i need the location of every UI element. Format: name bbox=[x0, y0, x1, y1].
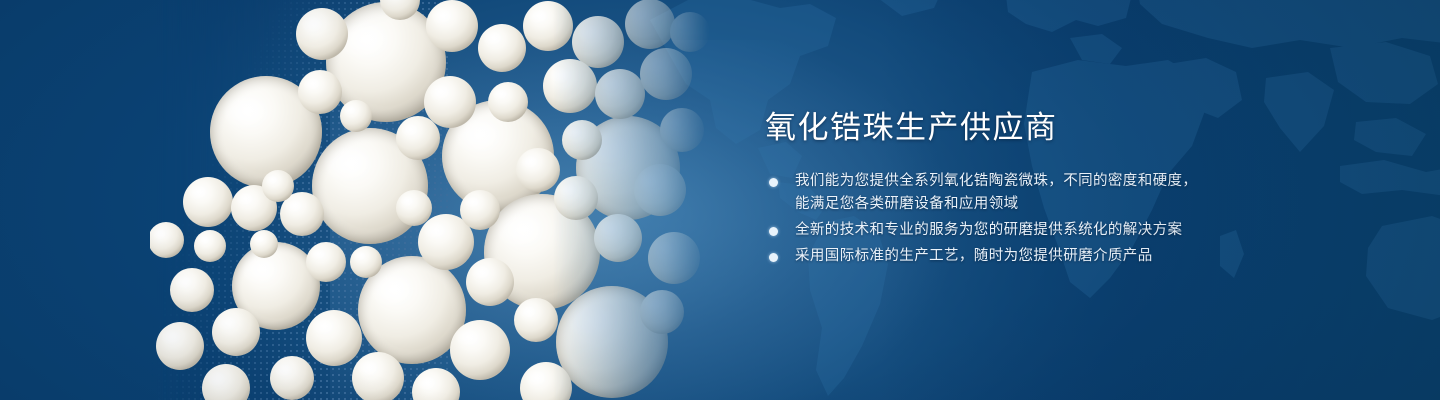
bullet-item-1: 我们能为您提供全系列氧化锆陶瓷微珠，不同的密度和硬度， 能满足您各类研磨设备和应… bbox=[765, 170, 1385, 216]
bullet-dot-icon bbox=[769, 253, 778, 262]
bullet-text-3-line1: 采用国际标准的生产工艺，随时为您提供研磨介质产品 bbox=[795, 248, 1153, 264]
hero-banner: 氧化锆珠生产供应商 我们能为您提供全系列氧化锆陶瓷微珠，不同的密度和硬度， 能满… bbox=[0, 0, 1440, 400]
bullet-text-2-line1: 全新的技术和专业的服务为您的研磨提供系统化的解决方案 bbox=[795, 222, 1182, 238]
bullet-dot-icon bbox=[769, 178, 778, 187]
background-left-panel bbox=[0, 0, 300, 400]
bullet-dot-icon bbox=[769, 227, 778, 236]
bullet-text-1-line2: 能满足您各类研磨设备和应用领域 bbox=[795, 193, 1385, 216]
bullet-item-3: 采用国际标准的生产工艺，随时为您提供研磨介质产品 bbox=[765, 245, 1385, 268]
banner-headline: 氧化锆珠生产供应商 bbox=[765, 108, 1385, 148]
banner-copy: 氧化锆珠生产供应商 我们能为您提供全系列氧化锆陶瓷微珠，不同的密度和硬度， 能满… bbox=[765, 108, 1385, 271]
bullet-item-2: 全新的技术和专业的服务为您的研磨提供系统化的解决方案 bbox=[765, 219, 1385, 242]
banner-bullet-list: 我们能为您提供全系列氧化锆陶瓷微珠，不同的密度和硬度， 能满足您各类研磨设备和应… bbox=[765, 170, 1385, 268]
bullet-text-1-line1: 我们能为您提供全系列氧化锆陶瓷微珠，不同的密度和硬度， bbox=[795, 173, 1197, 189]
